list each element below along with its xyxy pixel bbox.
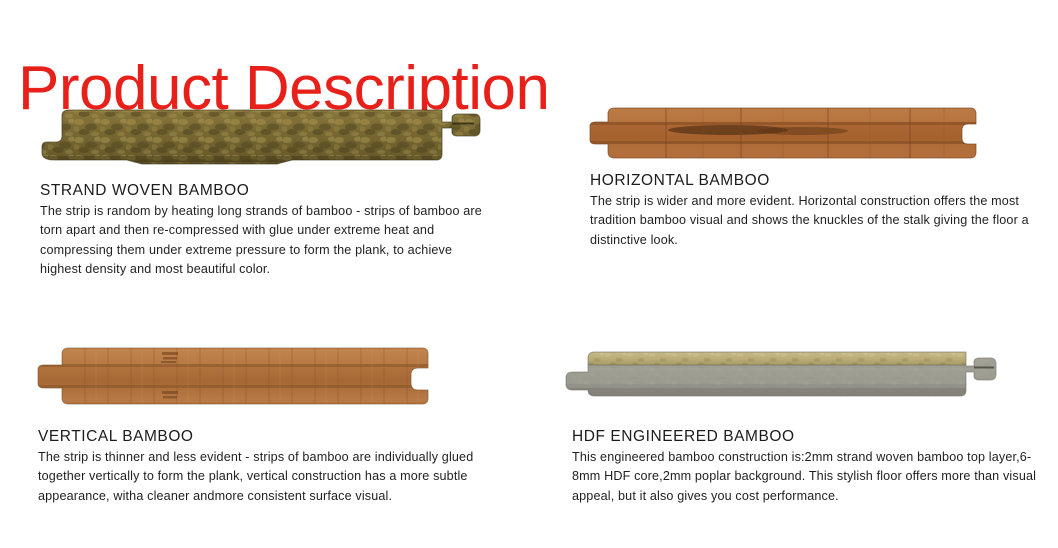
- product-body-strand-woven-bamboo: The strip is random by heating long stra…: [40, 202, 488, 279]
- product-card-vertical-bamboo: VERTICAL BAMBOO The strip is thinner and…: [30, 338, 530, 506]
- product-body-horizontal-bamboo: The strip is wider and more evident. Hor…: [590, 192, 1052, 250]
- horizontal-bamboo-plank-image: [578, 100, 1008, 172]
- product-heading-hdf-engineered-bamboo: HDF ENGINEERED BAMBOO: [572, 428, 1050, 446]
- product-heading-horizontal-bamboo: HORIZONTAL BAMBOO: [590, 172, 1048, 190]
- product-body-vertical-bamboo: The strip is thinner and less evident - …: [38, 448, 494, 506]
- hdf-engineered-bamboo-plank-image: [560, 338, 1000, 420]
- hdf-engineered-bamboo-illustration: [560, 338, 1000, 420]
- vertical-bamboo-illustration: [30, 338, 460, 416]
- product-card-strand-woven-bamboo: STRAND WOVEN BAMBOO The strip is random …: [22, 100, 522, 279]
- product-heading-strand-woven-bamboo: STRAND WOVEN BAMBOO: [40, 182, 522, 200]
- strand-woven-bamboo-plank-image: [22, 100, 502, 182]
- product-card-horizontal-bamboo: HORIZONTAL BAMBOO The strip is wider and…: [578, 100, 1048, 250]
- product-description-page: Product Description: [0, 0, 1058, 548]
- vertical-bamboo-plank-image: [30, 338, 460, 416]
- product-heading-vertical-bamboo: VERTICAL BAMBOO: [38, 428, 530, 446]
- horizontal-bamboo-illustration: [578, 100, 1008, 172]
- strand-woven-bamboo-illustration: [22, 100, 502, 182]
- product-body-hdf-engineered-bamboo: This engineered bamboo construction is:2…: [572, 448, 1042, 506]
- product-card-hdf-engineered-bamboo: HDF ENGINEERED BAMBOO This engineered ba…: [560, 338, 1050, 506]
